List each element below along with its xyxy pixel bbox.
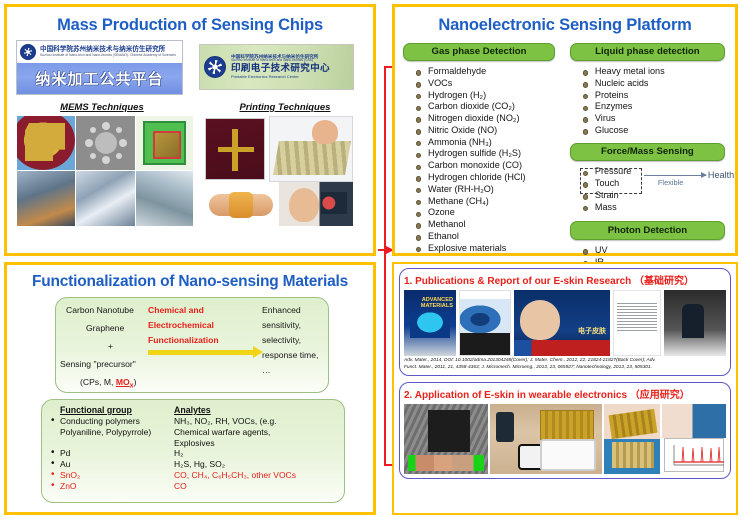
panel-functionalization: Functionalization of Nano-sensing Materi…: [4, 262, 376, 515]
logo-sinano-nanofab: 中国科学院苏州纳米技术与纳米仿生研究所 Suzhou Institute of …: [16, 40, 183, 95]
list-item: Mass: [582, 202, 727, 214]
list-item: Enzymes: [582, 101, 727, 113]
group-conducting-polymers-sub: Polyaniline, Polypyrrole): [42, 427, 174, 438]
red-bracket-connector: [378, 66, 392, 466]
list-item: Proteins: [582, 90, 727, 102]
technique-headings: MEMS Techniques Printing Techniques: [7, 102, 373, 113]
cas-seal-icon: [20, 44, 36, 60]
printed-sensor-array-photo: [269, 116, 353, 182]
equipment-photo-1: [17, 171, 75, 226]
list-item: Hydrogen sulfide (H₂S): [415, 148, 566, 160]
diagram-center-line-3: Functionalization: [148, 335, 219, 345]
panel-mass-production: Mass Production of Sensing Chips 中国科学院苏州…: [4, 4, 376, 256]
diagram-center-line-1: Chemical and: [148, 305, 204, 315]
diagram-left-line-2: Graphene: [86, 323, 124, 333]
functionalization-diagram: Carbon Nanotube Graphene + Sensing "prec…: [55, 297, 329, 393]
table-row: Pd H₂: [42, 448, 344, 459]
diagram-left-line-3: +: [108, 341, 113, 351]
list-item: Ozone: [415, 207, 566, 219]
cleanroom-photo: [76, 171, 135, 226]
list-item: Nitric Oxide (NO): [415, 125, 566, 137]
badge-photon-detection[interactable]: Photon Detection: [570, 221, 725, 240]
flexible-arrow-icon: [644, 175, 706, 176]
list-item: Methane (CH₄): [415, 196, 566, 208]
heading-mems-techniques: MEMS Techniques: [7, 102, 197, 113]
group-conducting-polymers: Conducting polymers: [60, 416, 140, 426]
card-applications: 2. Application of E-skin in wearable ele…: [399, 382, 731, 479]
page-title-mass-production: Mass Production of Sensing Chips: [7, 16, 373, 35]
list-item: Hydrogen chloride (HCl): [415, 172, 566, 184]
list-item: Virus: [582, 113, 727, 125]
diagram-right-line-1: Enhanced: [262, 305, 301, 315]
analyte-line: Explosives: [174, 437, 344, 448]
page-title-nanoelectronic-platform: Nanoelectronic Sensing Platform: [395, 16, 735, 35]
newspaper-article-photo: [613, 290, 661, 356]
functional-group-table: Functional group Analytes Conducting pol…: [41, 399, 345, 503]
list-item: Nitrogen dioxide (NO₂): [415, 113, 566, 125]
list-item: Carbon monoxide (CO): [415, 160, 566, 172]
analyte-line: NH₃, NO₂, RH, VOCs, (e.g.: [174, 416, 344, 427]
list-liquid-analytes: Heavy metal ions Nucleic acids Proteins …: [570, 66, 727, 137]
cas-seal-icon: [204, 56, 226, 78]
list-item: Carbon dioxide (CO₂): [415, 101, 566, 113]
list-item: Formaldehyde: [415, 66, 566, 78]
card-publications: 1. Publications & Report of our E-skin R…: [399, 268, 731, 376]
panel-nanoelectronic-platform: Nanoelectronic Sensing Platform Gas phas…: [392, 4, 738, 256]
group-au: Au: [60, 459, 70, 469]
pulse-signal-chart-photo: [662, 404, 726, 474]
bracket-vertical-line: [384, 66, 386, 466]
diagram-right-line-2: sensitivity,: [262, 320, 301, 330]
citation-line-2: Funct. Mater., 2011, 21, 4358-4363; J. M…: [404, 365, 726, 372]
slide-root: Mass Production of Sensing Chips 中国科学院苏州…: [0, 0, 742, 519]
badge-force-mass-sensing[interactable]: Force/Mass Sensing: [570, 143, 725, 162]
list-item: Water (RH-H₂O): [415, 184, 566, 196]
table-row: Explosives: [42, 437, 344, 448]
analyte-line: H₂S, Hg, SO₂: [174, 459, 344, 470]
mox-label: MOx: [116, 377, 134, 387]
list-item: UV: [582, 245, 727, 257]
col-header-analytes: Analytes: [174, 405, 344, 416]
list-item: Hydrogen (H₂): [415, 90, 566, 102]
list-item: Ethanol: [415, 231, 566, 243]
flexible-sensor-on-arm-photo: [604, 404, 660, 474]
gesture-recognition-demo-photo: [404, 404, 488, 474]
list-item: VOCs: [415, 78, 566, 90]
badge-liquid-phase-detection[interactable]: Liquid phase detection: [570, 43, 725, 62]
logo-sinano-banner-text: 纳米加工公共平台: [35, 68, 163, 89]
list-item: Ammonia (NH₃): [415, 137, 566, 149]
table-row: ZnO CO: [42, 480, 344, 491]
green-chip-layout-photo: [136, 116, 193, 170]
table-row: Conducting polymers NH₃, NO₂, RH, VOCs, …: [42, 416, 344, 427]
wearable-arm-band-photo: [205, 182, 277, 226]
institute-logo-row: 中国科学院苏州纳米技术与纳米仿生研究所 Suzhou Institute of …: [7, 40, 373, 98]
application-image-strip: [404, 404, 726, 474]
cctv-news-broadcast-photo: 电子皮肤: [514, 290, 610, 356]
diagram-right-line-3: selectivity,: [262, 335, 301, 345]
label-health: Health: [708, 170, 734, 180]
badge-gas-phase-detection[interactable]: Gas phase Detection: [403, 43, 555, 62]
advanced-materials-cover-label: ADVANCED MATERIALS: [407, 298, 453, 310]
interview-photo: [664, 290, 726, 356]
advanced-materials-cover-photo: ADVANCED MATERIALS: [404, 290, 456, 356]
eeg-cap-photo: [279, 182, 353, 226]
list-item: Nucleic acids: [582, 78, 727, 90]
list-item: Methanol: [415, 219, 566, 231]
wearable-device-bench-photo: [490, 404, 602, 474]
printed-circuit-substrate-photo: [205, 118, 265, 180]
analyte-line: CO: [174, 480, 344, 491]
transformation-arrow-icon: [148, 350, 254, 355]
diagram-left-line-1: Carbon Nanotube: [66, 305, 134, 315]
diagram-left-line-5: (CPs, M, MOx): [80, 377, 136, 391]
diagram-right-line-4: response time,: [262, 350, 318, 360]
logo-printable-electronics-center: 中国科学院苏州纳米技术与纳米仿生研究所 Suzhou Institute of …: [199, 44, 354, 90]
logo-sinano-banner: 纳米加工公共平台: [17, 63, 182, 94]
lab-bench-photo: [136, 171, 193, 226]
citation-line-1: Adv. Mater., 2014, DOI: 10.1002/adma.201…: [404, 358, 726, 365]
card-applications-title: 2. Application of E-skin in wearable ele…: [404, 386, 726, 401]
diagram-center-line-2: Electrochemical: [148, 320, 214, 330]
logo-perc-en-main: Printable Electronics Research Center: [231, 75, 330, 80]
group-zno: ZnO: [60, 481, 77, 491]
diagram-right-line-5: …: [262, 365, 271, 375]
table-row: SnO₂ CO, CH₄, C₆H₅CH₃, other VOCs: [42, 470, 344, 481]
heading-printing-techniques: Printing Techniques: [197, 102, 373, 113]
col-header-functional-group: Functional group: [42, 405, 174, 416]
card-publications-title: 1. Publications & Report of our E-skin R…: [404, 272, 726, 287]
table-row: Polyaniline, Polypyrrole) Chemical warfa…: [42, 427, 344, 438]
tablet-screen: [540, 439, 596, 471]
journal-cover-photo: [459, 290, 511, 356]
technique-photo-mosaic: [7, 116, 373, 228]
group-sno2: SnO₂: [60, 470, 80, 480]
list-item: Heavy metal ions: [582, 66, 727, 78]
page-title-functionalization: Functionalization of Nano-sensing Materi…: [7, 273, 373, 291]
gold-wafer-photo: [17, 116, 75, 170]
analyte-line: H₂: [174, 448, 344, 459]
table-header-row: Functional group Analytes: [42, 405, 344, 416]
table-row: Au H₂S, Hg, SO₂: [42, 459, 344, 470]
list-gas-analytes: Formaldehyde VOCs Hydrogen (H₂) Carbon d…: [403, 66, 566, 254]
logo-sinano-en-text: Suzhou Institute of Nano-tech and Nano-b…: [40, 54, 176, 58]
cctv-eskin-caption: 电子皮肤: [578, 326, 606, 336]
pressure-touch-highlight-box: [580, 168, 642, 194]
mems-rotor-sem-photo: [76, 116, 135, 170]
analyte-line: CO, CH₄, C₆H₅CH₃, other VOCs: [174, 470, 344, 481]
list-item: Explosive materials: [415, 243, 566, 255]
publication-image-strip: ADVANCED MATERIALS 电子皮肤: [404, 290, 726, 356]
pulse-signal-plot: [668, 443, 726, 469]
analyte-line: Chemical warfare agents,: [174, 427, 344, 438]
panel-eskin: 1. Publications & Report of our E-skin R…: [392, 262, 738, 515]
diagram-left-line-4: Sensing "precursor": [60, 359, 136, 369]
group-pd: Pd: [60, 448, 70, 458]
label-flexible: Flexible: [658, 178, 683, 187]
bracket-arrow-icon: [378, 249, 393, 251]
list-item: Glucose: [582, 125, 727, 137]
logo-sinano-header: 中国科学院苏州纳米技术与纳米仿生研究所 Suzhou Institute of …: [17, 41, 182, 63]
